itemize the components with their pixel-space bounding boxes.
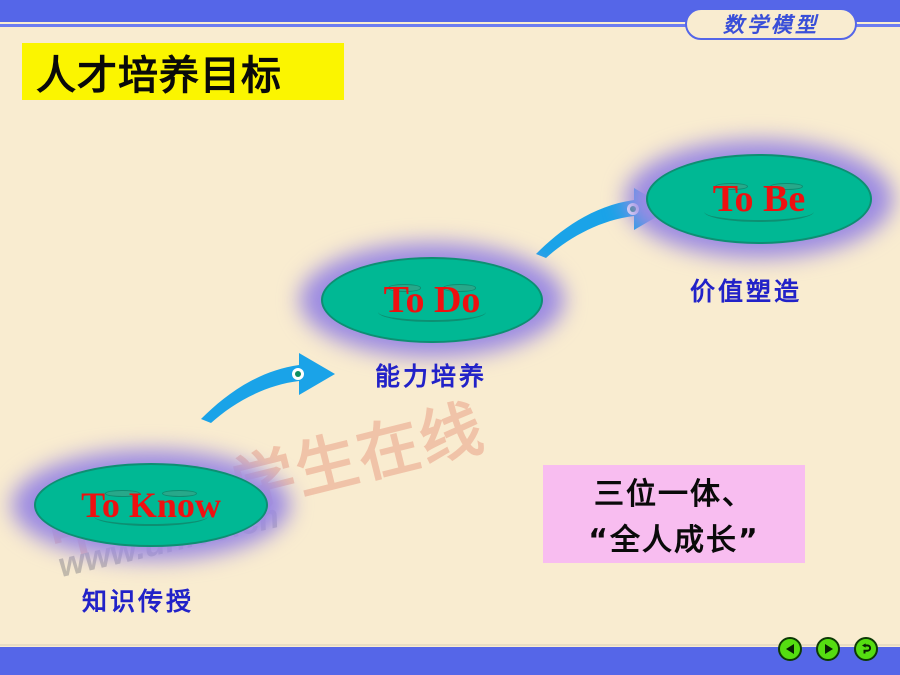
face-shape-to-do: To Do	[300, 243, 564, 357]
previous-slide-button[interactable]	[778, 637, 802, 661]
course-banner: 数学模型	[685, 8, 857, 40]
return-button[interactable]	[854, 637, 878, 661]
face-shape-to-be: To Be	[625, 140, 893, 258]
triangle-right-icon	[823, 643, 834, 655]
caption-to-know: 知识传授	[82, 582, 194, 618]
face-shape-to-know: To Know	[12, 450, 290, 560]
face-label-to-be: To Be	[625, 140, 893, 258]
slide-canvas: 数学模型 人才培养目标 中国大学生在线 www.univs.cn To Be	[0, 0, 900, 675]
triangle-left-icon	[785, 643, 796, 655]
bottom-band-accent-line	[0, 644, 900, 646]
slide-navigation	[778, 637, 878, 661]
page-title-text: 人才培养目标	[36, 43, 282, 101]
return-arrow-icon	[859, 642, 873, 656]
bottom-band	[0, 647, 900, 675]
next-slide-button[interactable]	[816, 637, 840, 661]
face-label-to-know: To Know	[12, 450, 290, 560]
course-banner-label: 数学模型	[723, 9, 819, 39]
summary-callout-box: 三位一体、 “全人成长”	[543, 465, 805, 563]
face-label-to-do: To Do	[300, 243, 564, 357]
summary-line-1: 三位一体、	[594, 469, 754, 513]
summary-line-2: “全人成长”	[588, 515, 759, 559]
caption-to-do: 能力培养	[375, 357, 487, 393]
curved-arrow-icon-know-to-do	[195, 345, 345, 425]
caption-to-be: 价值塑造	[690, 272, 802, 308]
page-title: 人才培养目标	[22, 43, 344, 100]
